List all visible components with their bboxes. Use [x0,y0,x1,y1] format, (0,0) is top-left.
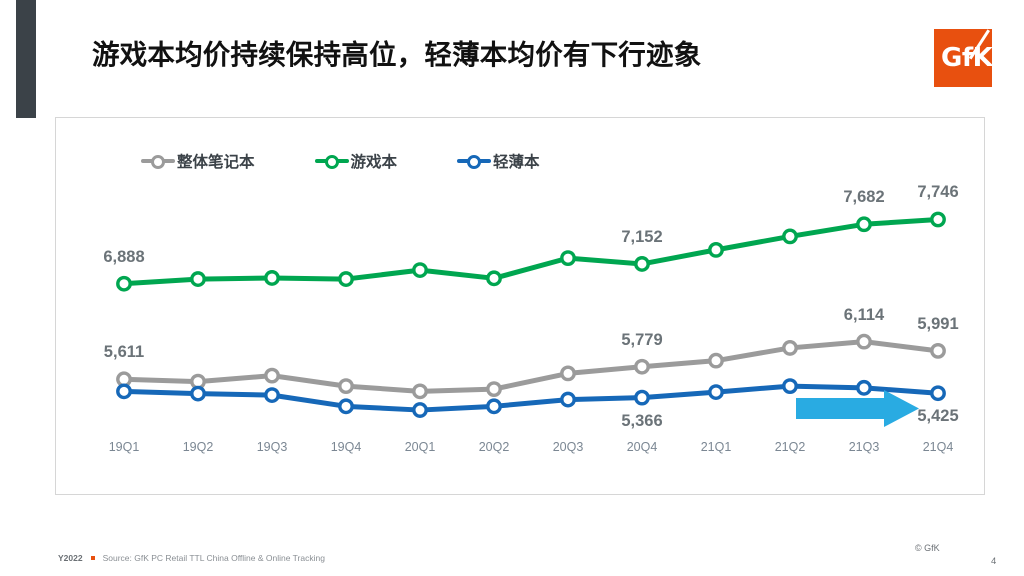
footer-source: Y2022 Source: GfK PC Retail TTL China Of… [58,553,325,563]
data-point[interactable] [562,252,574,264]
chart-container: 整体笔记本游戏本轻薄本 5,6115,7796,1145,9916,8887,1… [55,117,985,495]
data-point[interactable] [562,393,574,405]
x-axis-tick-label: 20Q2 [479,440,510,454]
footer-year: Y2022 [58,553,83,563]
series-1 [118,213,944,290]
data-point[interactable] [488,383,500,395]
data-point[interactable] [858,218,870,230]
data-point[interactable] [414,385,426,397]
data-point[interactable] [192,387,204,399]
data-point[interactable] [784,230,796,242]
data-point[interactable] [340,380,352,392]
data-point[interactable] [118,385,130,397]
downward-trend-arrow-icon [796,390,919,427]
data-point[interactable] [784,342,796,354]
data-point[interactable] [414,404,426,416]
footer-copyright: © GfK [915,543,940,553]
x-axis-tick-label: 19Q4 [331,440,362,454]
data-point[interactable] [710,386,722,398]
x-axis-tick-label: 19Q3 [257,440,288,454]
series-line [124,342,938,392]
data-point[interactable] [414,264,426,276]
x-axis-tick-label: 21Q4 [923,440,954,454]
data-point[interactable] [562,367,574,379]
data-point[interactable] [266,389,278,401]
gfk-logo: GfK [934,29,992,87]
title-accent-bar [16,0,36,118]
data-point[interactable] [710,354,722,366]
footer-page-number: 4 [991,556,996,567]
footer-source-text: Source: GfK PC Retail TTL China Offline … [103,553,325,563]
footer-bullet-icon [91,556,95,560]
x-axis-tick-label: 20Q4 [627,440,658,454]
data-point[interactable] [932,213,944,225]
data-point[interactable] [636,258,648,270]
data-point[interactable] [266,369,278,381]
data-point[interactable] [488,272,500,284]
data-point[interactable] [488,400,500,412]
data-point[interactable] [340,400,352,412]
x-axis-tick-label: 19Q1 [109,440,140,454]
data-point[interactable] [932,387,944,399]
page-title: 游戏本均价持续保持高位，轻薄本均价有下行迹象 [92,38,892,71]
x-axis-tick-label: 21Q1 [701,440,732,454]
data-point[interactable] [858,335,870,347]
data-point[interactable] [118,278,130,290]
data-point[interactable] [636,391,648,403]
x-axis-labels: 19Q119Q219Q319Q420Q120Q220Q320Q421Q121Q2… [56,440,986,464]
x-axis-tick-label: 20Q1 [405,440,436,454]
x-axis-tick-label: 21Q3 [849,440,880,454]
data-point[interactable] [192,273,204,285]
gfk-logo-text: GfK [941,43,992,73]
data-point[interactable] [340,273,352,285]
data-point[interactable] [784,380,796,392]
data-point[interactable] [266,272,278,284]
data-point[interactable] [636,361,648,373]
x-axis-tick-label: 20Q3 [553,440,584,454]
data-point[interactable] [710,244,722,256]
x-axis-tick-label: 19Q2 [183,440,214,454]
series-line [124,219,938,283]
x-axis-tick-label: 21Q2 [775,440,806,454]
data-point[interactable] [932,345,944,357]
